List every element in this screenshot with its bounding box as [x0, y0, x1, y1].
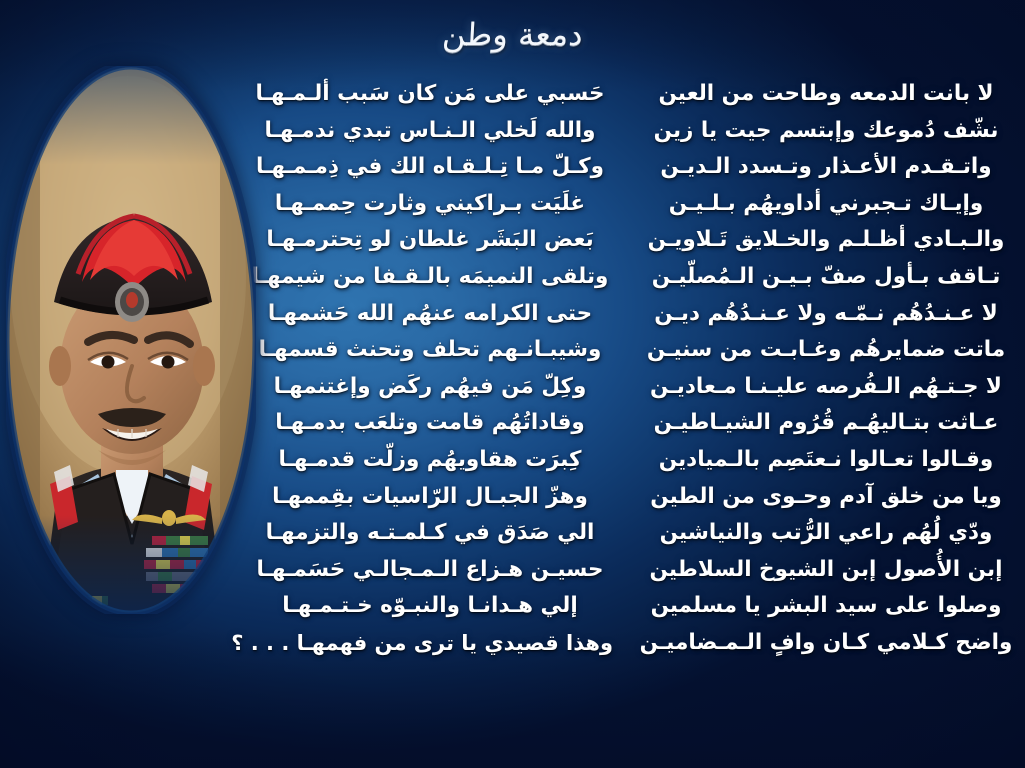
verse-line: غلَيَت بـراكيني وثارت حِممـهـا [247, 186, 619, 223]
verse-line: حتى الكرامه عنهُم الله حَشمهـا [247, 296, 619, 333]
verse-line: لا جـتـهُم الـفُرصه عليـنـا مـعاديـن [619, 369, 1019, 406]
verse-line: وتلقى النميمَه بالـقـفا من شيمهـا [247, 259, 619, 296]
verse-line: وقـالوا تعـالوا نـعتَصِم بالـميادين [619, 442, 1019, 479]
verse-line: وكِلّ مَن فيهُم ركَض وإغتنمهـا [247, 369, 619, 406]
avatar [6, 66, 256, 614]
verse-line: واضح كـلامي كـان وافٍ الـمـضاميـن [619, 625, 1019, 662]
verse-line: عـاثت بتـاليهُـم قُرُوم الشيـاطيـن [619, 405, 1019, 442]
verse-line: إلي هـدانـا والنبـوّه خـتـمـهـا [247, 588, 619, 625]
verse-line: والله لَخلي الـنـاس تبدي ندمـهـا [247, 113, 619, 150]
verse-line: وقاداتُهُم قامت وتلعَب بدمـهـا [247, 405, 619, 442]
verse-line: لا عـنـدُهُم نـمّـه ولا عـنـدُهُم ديـن [619, 296, 1019, 333]
verse-line-final: وهذا قصيدي يا ترى من فهمهـا . . . ؟ [247, 625, 619, 662]
verse-line: وإيـاك تـجبرني أداويهُم بـلـيـن [619, 186, 1019, 223]
right-verse-column: لا بانت الدمعه وطاحت من العين نشّف دُموع… [619, 74, 1019, 764]
verse-line: الي صَدَق في كـلمـتـه والتزمهـا [247, 515, 619, 552]
left-verse-column: حَسبي على مَن كان سَبب ألـمـهـا والله لَ… [247, 74, 619, 764]
page-title: دمعة وطن [441, 17, 583, 53]
verse-line: بَعض البَشَر غلطان لو تِحترمـهـا [247, 222, 619, 259]
verse-line: ويا من خلق آدم وحـوى من الطين [619, 479, 1019, 516]
verse-line: وهزّ الجبـال الرّاسيات بقِممهـا [247, 479, 619, 516]
verse-line: لا بانت الدمعه وطاحت من العين [619, 76, 1019, 113]
verse-line: تـاقف بـأول صفّ بـيـن الـمُصلّيـن [619, 259, 1019, 296]
verse-line: واتـقـدم الأعـذار وتـسدد الـديـن [619, 149, 1019, 186]
poem-poster: دمعة وطن [0, 0, 1025, 768]
verse-line: وصلوا على سيد البشر يا مسلمين [619, 588, 1019, 625]
verse-line: والـبـادي أظـلـم والخـلايق تَـلاويـن [619, 222, 1019, 259]
verse-line: حسيـن هـزاع الـمـجالـي حَسَمـهـا [247, 552, 619, 589]
verse-line: إبن الأُصول إبن الشيوخ السلاطين [619, 552, 1019, 589]
verse-line: نشّف دُموعك وإبتسم جيت يا زين [619, 113, 1019, 150]
verse-line: كِبرَت هقاويهُم وزلّت قدمـهـا [247, 442, 619, 479]
title-bar: دمعة وطن [0, 6, 1025, 64]
verse-line: وكـلّ مـا تِـلـقـاه الك في ذِمـمـهـا [247, 149, 619, 186]
verse-line: حَسبي على مَن كان سَبب ألـمـهـا [247, 76, 619, 113]
verse-line: ودّي لُهُم راعي الرُّتب والنياشين [619, 515, 1019, 552]
verse-line: ماتت ضمايرهُم وغـابـت من سنيـن [619, 332, 1019, 369]
verse-line: وشيبـانـهم تحلف وتحنث قسمهـا [247, 332, 619, 369]
